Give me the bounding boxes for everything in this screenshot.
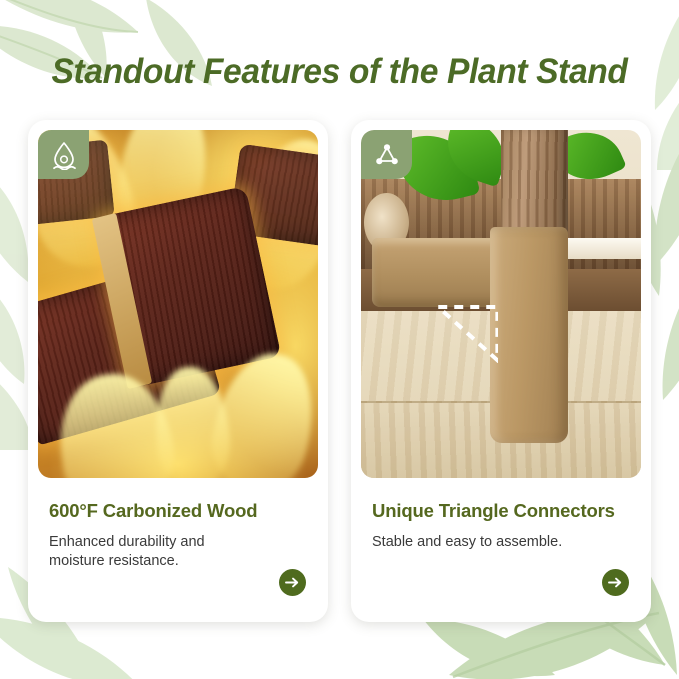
card-text-block: Unique Triangle Connectors Stable and ea… [351,478,651,622]
connector-vertical-leg [490,227,568,443]
feature-photo-triangle-connector [361,130,641,478]
card-heading: Unique Triangle Connectors [372,500,631,522]
arrow-right-icon [285,576,300,589]
next-arrow-button[interactable] [602,569,629,596]
feature-photo-carbonized-wood [38,130,318,478]
badge-moisture [38,130,89,179]
card-description: Stable and easy to assemble. [372,533,587,552]
feature-card-triangle-connectors[interactable]: Unique Triangle Connectors Stable and ea… [351,120,651,622]
page-title: Standout Features of the Plant Stand [14,50,666,94]
dashed-triangle-overlay [437,304,499,363]
water-droplet-icon [50,140,78,170]
card-text-block: 600°F Carbonized Wood Enhanced durabilit… [28,478,328,622]
next-arrow-button[interactable] [279,569,306,596]
infographic-canvas: Standout Features of the Plant Stand [0,0,679,679]
feature-card-list: 600°F Carbonized Wood Enhanced durabilit… [28,120,651,622]
feature-card-carbonized-wood[interactable]: 600°F Carbonized Wood Enhanced durabilit… [28,120,328,622]
arrow-right-icon [608,576,623,589]
card-heading: 600°F Carbonized Wood [49,500,308,522]
triangle-nodes-icon [373,141,401,169]
badge-triangle [361,130,412,179]
card-description: Enhanced durability and moisture resista… [49,533,264,571]
